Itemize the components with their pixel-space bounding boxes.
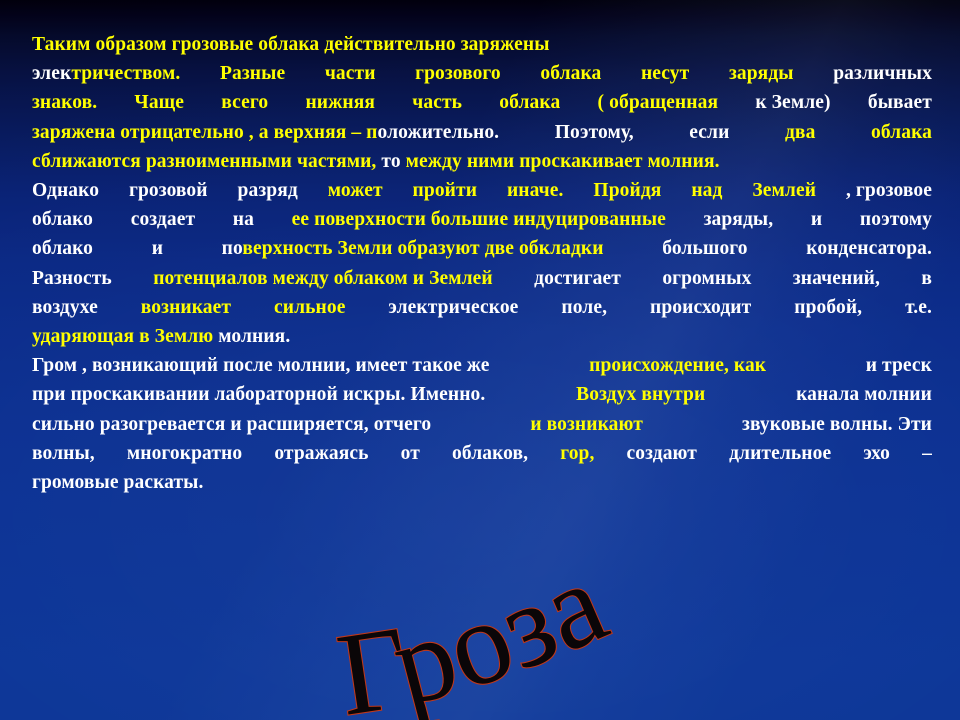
run-group: поверхность Земли образуют две обкладки — [222, 234, 604, 263]
run-yellow: происхождение, как — [589, 351, 766, 380]
run-white: огромных — [662, 264, 751, 293]
run-yellow: пройти — [413, 176, 477, 205]
run-yellow: часть — [412, 88, 462, 117]
run-white: при проскакивании лабораторной искры. Им… — [32, 380, 485, 409]
run-yellow: нижняя — [305, 88, 375, 117]
run-white: конденсатора. — [806, 234, 932, 263]
run-white: то — [381, 151, 400, 172]
run-white: и — [152, 234, 163, 263]
run-white: облако — [32, 205, 93, 234]
run-yellow: тричеством. — [71, 63, 180, 84]
text-line-10: воздухевозникаетсильноеэлектрическоеполе… — [32, 293, 932, 322]
run-white: значений, — [793, 264, 880, 293]
run-yellow: заряды — [729, 59, 794, 88]
run-yellow: грозового — [415, 59, 501, 88]
run-yellow: Воздух внутри — [576, 380, 705, 409]
run-white: Однако — [32, 176, 99, 205]
run-yellow: между ними проскакивает молния. — [406, 151, 720, 172]
wordart-text: Гроза — [330, 536, 625, 720]
run-white: эхо — [863, 439, 890, 468]
run-white: на — [233, 205, 254, 234]
run-yellow: сильное — [274, 293, 345, 322]
run-yellow: над — [691, 176, 722, 205]
run-white: многократно — [127, 439, 242, 468]
run-white: достигает — [534, 264, 621, 293]
text-line-4: заряжена отрицательно , а верхняя – поло… — [32, 118, 932, 147]
run-white: большого — [662, 234, 747, 263]
slide-body-text: Таким образом грозовые облака действител… — [32, 30, 932, 497]
run-white: к Земле) — [755, 88, 830, 117]
run-yellow: знаков. — [32, 88, 97, 117]
run-white: создает — [131, 205, 195, 234]
run-yellow: части — [325, 59, 376, 88]
run-white: поле, — [561, 293, 607, 322]
run-yellow: Чаще — [134, 88, 184, 117]
run-white: отражаясь — [274, 439, 368, 468]
run-white: бывает — [868, 88, 932, 117]
run-yellow: сближаются разноименными частями, — [32, 151, 376, 172]
paragraph-3: Гром , возникающий после молнии, имеет т… — [32, 351, 932, 497]
text-line-11: ударяющая в Землю молния. — [32, 322, 932, 351]
run-white: происходит — [650, 293, 751, 322]
run-yellow: всего — [221, 88, 268, 117]
text-line-16: громовые раскаты. — [32, 468, 932, 497]
run-white: разряд — [238, 176, 298, 205]
run-white: т.е. — [905, 293, 932, 322]
run-yellow: ( обращенная — [598, 88, 719, 117]
text-line-5: сближаются разноименными частями, то меж… — [32, 147, 932, 176]
run-white: облако — [32, 234, 93, 263]
paragraph-1: Таким образом грозовые облака действител… — [32, 30, 932, 176]
run-yellow: верхность Земли образуют две обкладки — [242, 238, 603, 259]
run-yellow: может — [328, 176, 383, 205]
run-white: от — [401, 439, 420, 468]
run-yellow: и возникают — [530, 410, 643, 439]
text-line-3: знаков.Чащевсегонижняячастьоблака( обращ… — [32, 88, 932, 117]
run-white: облаков, — [452, 439, 528, 468]
run-white: волны, — [32, 439, 95, 468]
text-line-13: при проскакивании лабораторной искры. Им… — [32, 380, 932, 409]
run-white: громовые раскаты. — [32, 472, 203, 493]
text-line-7: облакосоздаетнаее поверхности большие ин… — [32, 205, 932, 234]
run-white: – — [922, 439, 932, 468]
run-white: заряды, — [704, 205, 774, 234]
run-white: в — [921, 264, 932, 293]
run-white: если — [689, 118, 729, 147]
run-white: воздухе — [32, 293, 98, 322]
run-white: сильно разогревается и расширяется, отче… — [32, 410, 431, 439]
text-line-1: Таким образом грозовые облака действител… — [32, 30, 932, 59]
run-white: молния. — [218, 326, 290, 347]
run-yellow: несут — [641, 59, 689, 88]
run-white: звуковые волны. Эти — [742, 410, 932, 439]
run-white: по — [222, 238, 243, 259]
run-white: длительное — [729, 439, 831, 468]
wordart-glyphs: Гроза — [330, 536, 625, 720]
run-yellow: заряжена отрицательно , а верхняя – п — [32, 122, 378, 143]
run-group: заряжена отрицательно , а верхняя – поло… — [32, 118, 499, 147]
run-yellow: ударяющая в Землю — [32, 326, 213, 347]
run-white: Поэтому, — [555, 118, 634, 147]
run-white: Разность — [32, 264, 112, 293]
text-line-15: волны,многократноотражаясьотоблаков,гор,… — [32, 439, 932, 468]
run-white: , грозовое — [846, 176, 932, 205]
run-white: оложительно. — [378, 122, 500, 143]
run-yellow: ее поверхности большие индуцированные — [292, 205, 666, 234]
text-line-8: облакоиповерхность Земли образуют две об… — [32, 234, 932, 263]
run-white: электрическое — [388, 293, 518, 322]
run-white: поэтому — [860, 205, 932, 234]
run-yellow: Пройдя — [593, 176, 661, 205]
run-yellow: иначе. — [507, 176, 564, 205]
run-yellow: потенциалов между облаком и Землей — [153, 264, 493, 293]
text-line-9: Разностьпотенциалов между облаком и Земл… — [32, 264, 932, 293]
run-yellow: Разные — [220, 59, 285, 88]
text-line-2: электричеством.Разныечастигрозовогооблак… — [32, 59, 932, 88]
run-yellow: облака — [871, 118, 932, 147]
run-yellow: облака — [540, 59, 601, 88]
run-yellow: Землей — [752, 176, 816, 205]
run-white: Гром , возникающий после молнии, имеет т… — [32, 351, 490, 380]
paragraph-2: Однакогрозовойразрядможетпройтииначе.Про… — [32, 176, 932, 351]
run-yellow: Таким образом грозовые облака действител… — [32, 34, 550, 55]
presentation-slide: Таким образом грозовые облака действител… — [0, 0, 960, 720]
run-yellow: возникает — [141, 293, 231, 322]
run-white: и треск — [866, 351, 932, 380]
text-line-14: сильно разогревается и расширяется, отче… — [32, 410, 932, 439]
run-white: грозовой — [129, 176, 208, 205]
text-line-12: Гром , возникающий после молнии, имеет т… — [32, 351, 932, 380]
run-yellow: два — [785, 118, 815, 147]
run-yellow: гор, — [560, 439, 594, 468]
run-group: электричеством. — [32, 59, 180, 88]
run-white: пробой, — [794, 293, 862, 322]
run-white: и — [811, 205, 822, 234]
wordart-title: Гроза — [0, 586, 960, 720]
run-white: канала молнии — [796, 380, 932, 409]
text-line-6: Однакогрозовойразрядможетпройтииначе.Про… — [32, 176, 932, 205]
run-white: различных — [833, 59, 932, 88]
run-yellow: облака — [499, 88, 560, 117]
run-white: элек — [32, 63, 71, 84]
run-white: создают — [627, 439, 697, 468]
